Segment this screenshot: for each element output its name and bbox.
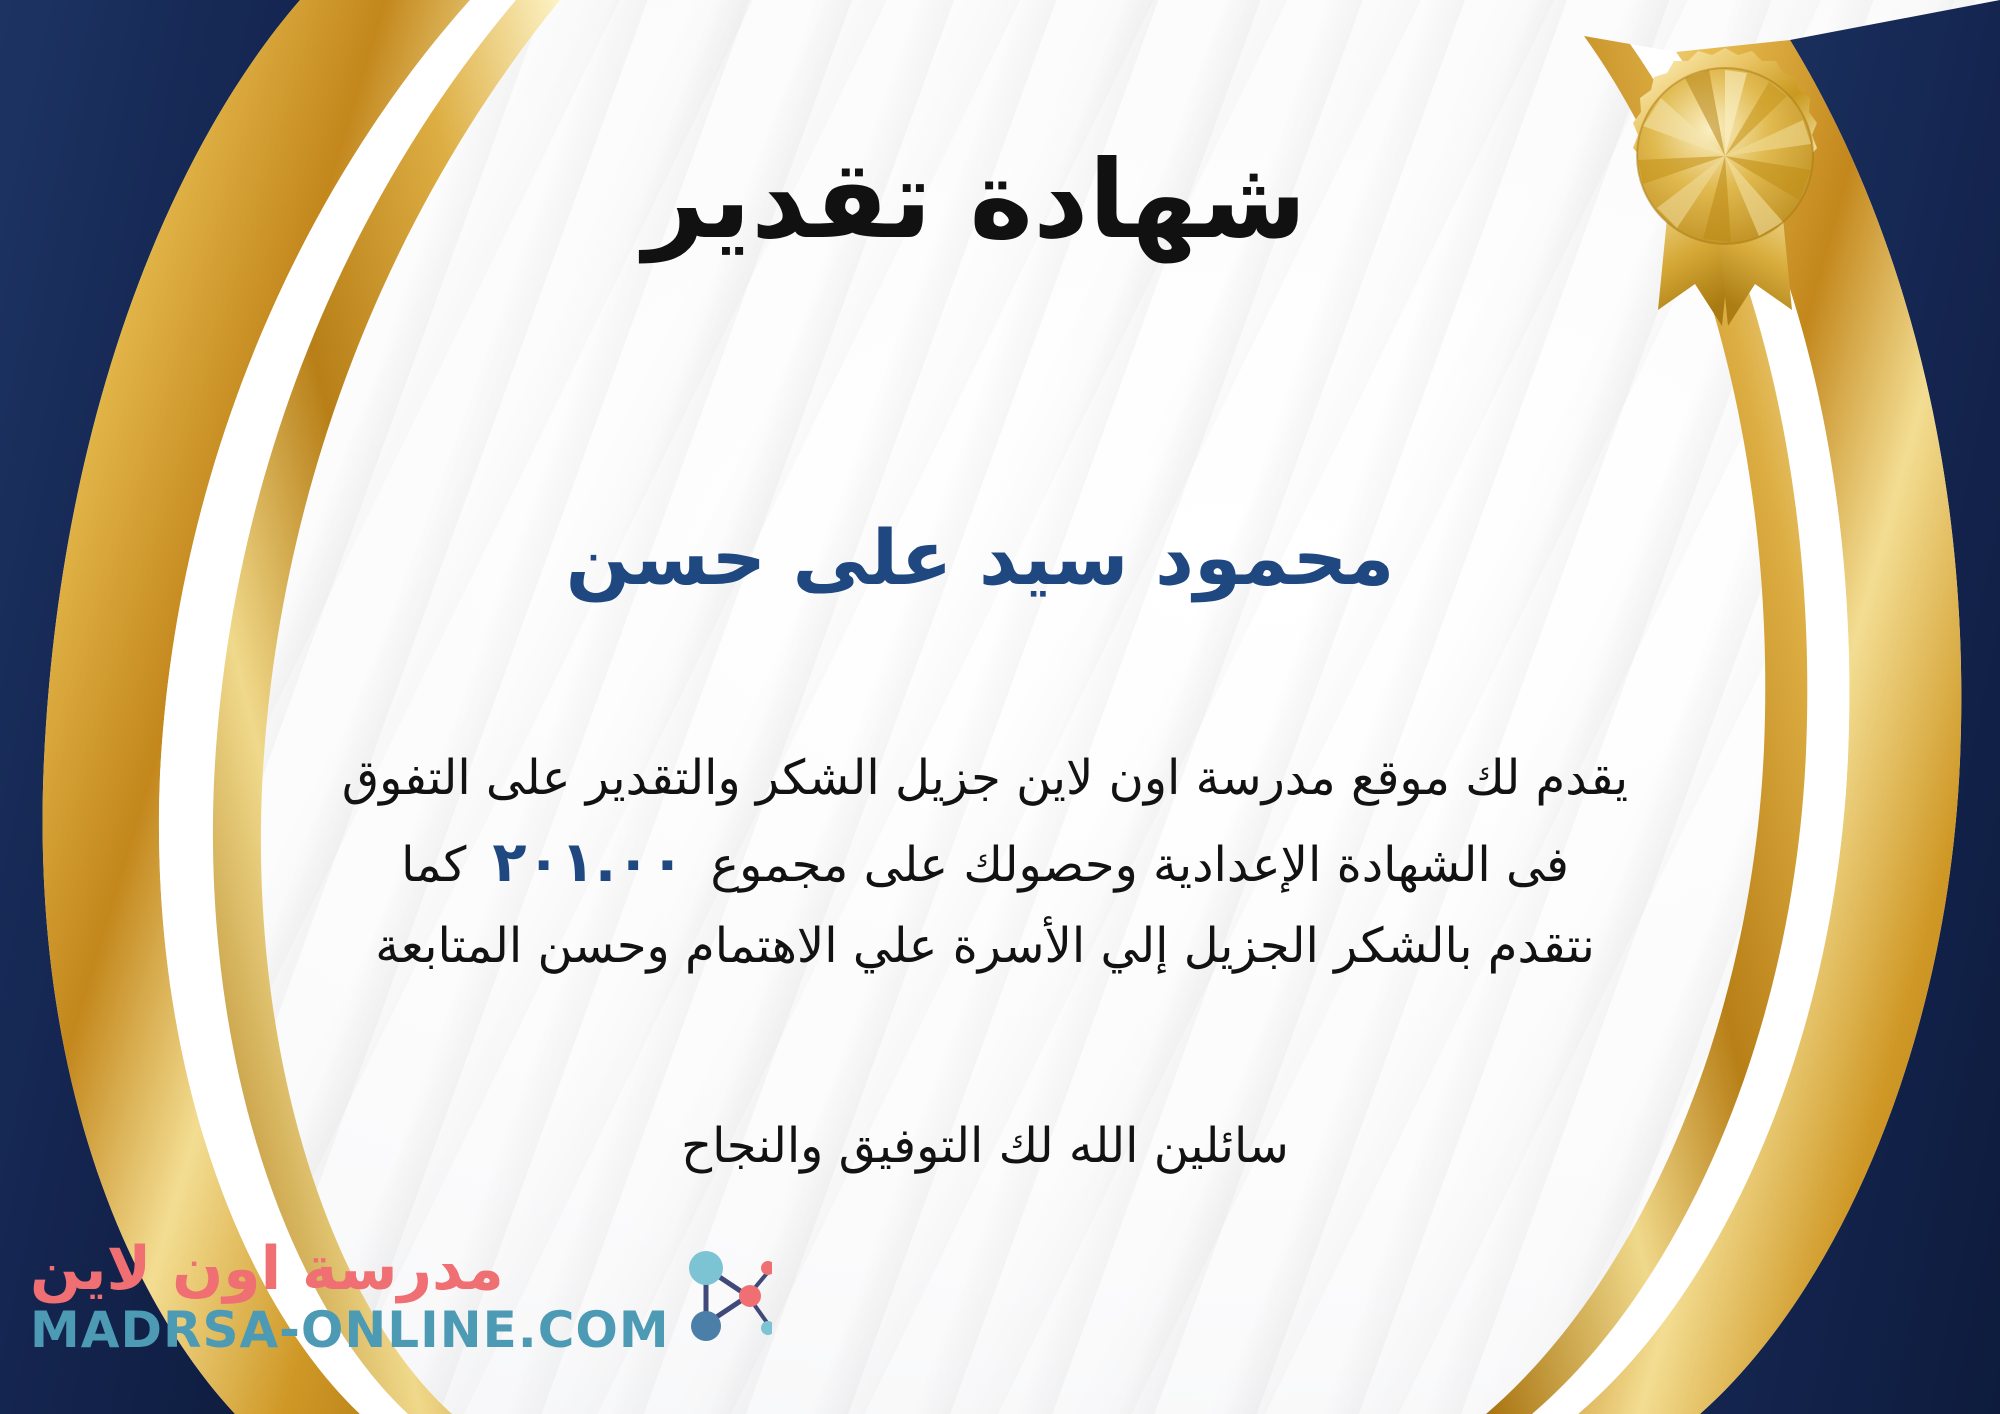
brand-logo-text: مدرسة اون لاين MADRSA-ONLINE.COM	[30, 1239, 670, 1355]
page-title: شهادة تقدير	[0, 142, 1950, 261]
body-line-3: نتقدم بالشكر الجزيل إلي الأسرة علي الاهت…	[20, 908, 1950, 986]
body-line-2-suffix: كما	[401, 837, 466, 893]
closing-wish: سائلين الله لك التوفيق والنجاح	[20, 1118, 1950, 1174]
network-nodes-icon	[676, 1242, 772, 1352]
body-line-2: فى الشهادة الإعدادية وحصولك على مجموع٢٠١…	[20, 818, 1950, 909]
body-line-1: يقدم لك موقع مدرسة اون لاين جزيل الشكر و…	[20, 740, 1950, 818]
brand-name-arabic: مدرسة اون لاين	[30, 1239, 504, 1299]
body-line-2-prefix: فى الشهادة الإعدادية وحصولك على مجموع	[710, 837, 1568, 893]
grade-total-value: ٢٠١.٠٠	[466, 818, 710, 909]
certificate-canvas: شهادة تقدير محمود سيد على حسن يقدم لك مو…	[0, 0, 2000, 1414]
certificate-content: شهادة تقدير محمود سيد على حسن يقدم لك مو…	[0, 0, 2000, 1414]
certificate-body: يقدم لك موقع مدرسة اون لاين جزيل الشكر و…	[20, 740, 1950, 986]
recipient-name: محمود سيد على حسن	[0, 512, 1960, 603]
brand-website: MADRSA-ONLINE.COM	[30, 1305, 670, 1355]
brand-logo[interactable]: مدرسة اون لاين MADRSA-ONLINE.COM	[30, 1222, 570, 1372]
